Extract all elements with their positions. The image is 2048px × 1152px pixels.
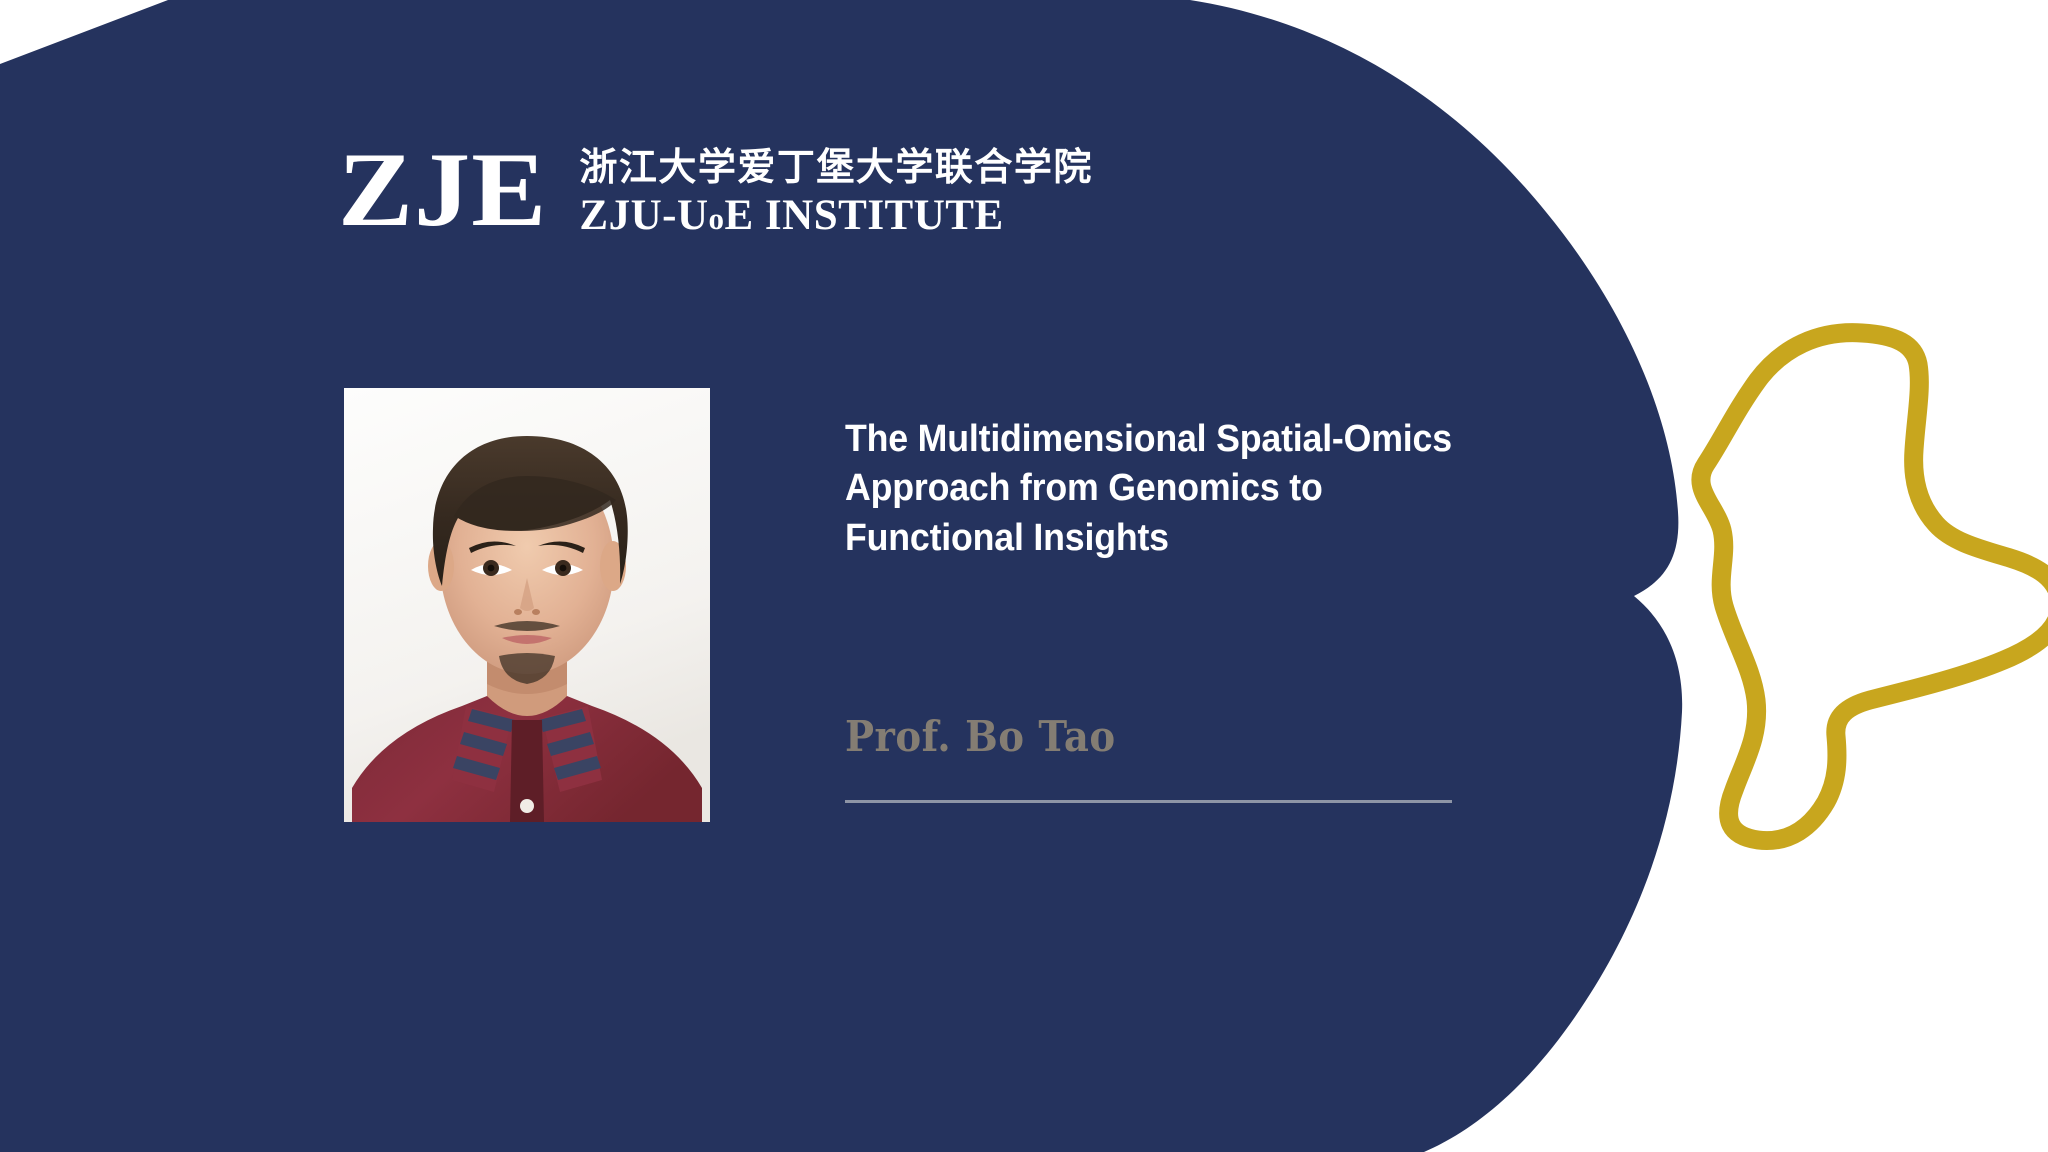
portrait-pupil-right [560,565,567,572]
seminar-slide: ZJE 浙江大学爱丁堡大学联合学院 ZJU-UoE INSTITUTE [0,0,2048,1152]
speaker-portrait-frame [344,388,710,822]
portrait-button [520,799,534,813]
portrait-pupil-left [488,565,495,572]
institute-name-english-smallcap-o: o [709,201,725,236]
institute-name-chinese: 浙江大学爱丁堡大学联合学院 [579,145,1093,190]
institute-name-english: ZJU-UoE INSTITUTE [579,192,1093,239]
speaker-name: Prof. Bo Tao [845,714,1116,760]
speaker-portrait-photo [344,388,710,822]
institute-name-english-prefix: ZJU-U [579,192,708,239]
zje-wordmark: ZJE [338,140,547,240]
talk-title-line-3: Functional Insights [845,514,1559,563]
portrait-nostril-left [514,609,522,615]
portrait-nostril-right [532,609,540,615]
institute-names: 浙江大学爱丁堡大学联合学院 ZJU-UoE INSTITUTE [579,141,1093,239]
zje-logo-lockup: ZJE 浙江大学爱丁堡大学联合学院 ZJU-UoE INSTITUTE [338,140,1093,240]
talk-title: The Multidimensional Spatial-Omics Appro… [845,415,1559,563]
talk-title-line-2: Approach from Genomics to [845,464,1559,513]
talk-title-line-1: The Multidimensional Spatial-Omics [845,415,1559,464]
institute-name-english-suffix: E INSTITUTE [725,192,1004,239]
gold-hand-drawn-blob-outline [1701,333,2048,841]
speaker-divider-rule [845,800,1452,803]
